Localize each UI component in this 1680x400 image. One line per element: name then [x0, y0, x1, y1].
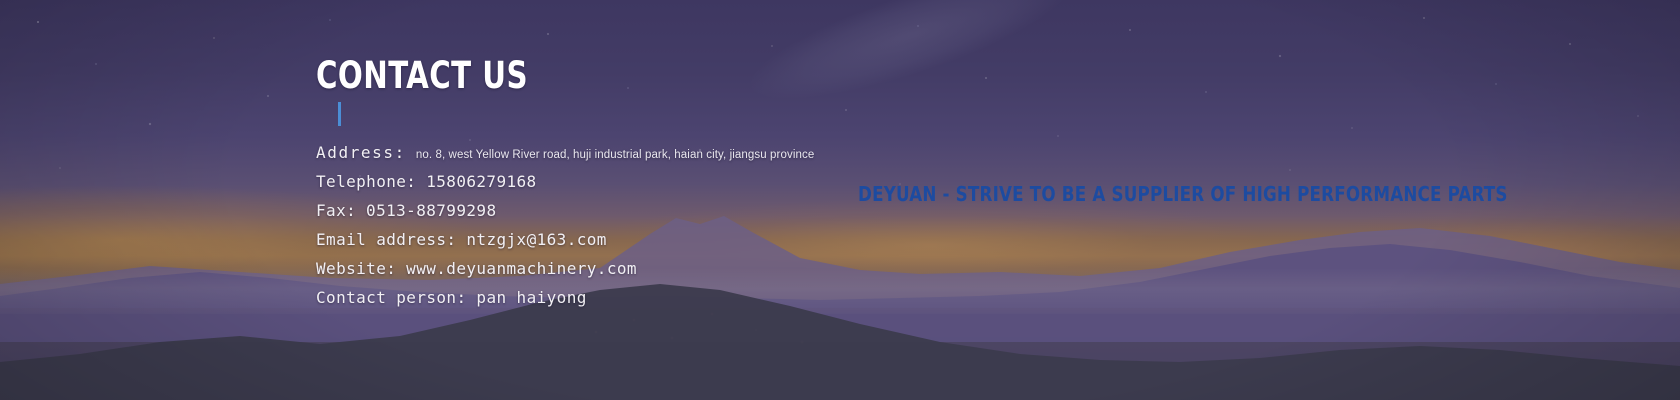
- address-value: no. 8, west Yellow River road, huji indu…: [416, 149, 814, 161]
- email-value[interactable]: ntzgjx@163.com: [466, 230, 606, 249]
- contact-person-label: Contact person:: [316, 288, 467, 307]
- contact-row-website: Website: www.deyuanmachinery.com: [316, 259, 814, 288]
- website-value[interactable]: www.deyuanmachinery.com: [406, 259, 637, 278]
- company-slogan: DEYUAN - STRIVE TO BE A SUPPLIER OF HIGH…: [858, 184, 1508, 204]
- title-accent-bar: [338, 102, 341, 126]
- contact-row-contact-person: Contact person: pan haiyong: [316, 288, 814, 317]
- email-label: Email address:: [316, 230, 456, 249]
- telephone-label: Telephone:: [316, 172, 416, 191]
- banner-content: CONTACT US Address: no. 8, west Yellow R…: [0, 0, 1680, 400]
- contact-banner: CONTACT US Address: no. 8, west Yellow R…: [0, 0, 1680, 400]
- fax-value: 0513-88799298: [366, 201, 496, 220]
- telephone-value[interactable]: 15806279168: [426, 172, 536, 191]
- contact-row-telephone: Telephone: 15806279168: [316, 172, 814, 201]
- contact-person-value: pan haiyong: [476, 288, 586, 307]
- contact-details-list: Address: no. 8, west Yellow River road, …: [316, 143, 814, 317]
- contact-row-email: Email address: ntzgjx@163.com: [316, 230, 814, 259]
- contact-row-fax: Fax: 0513-88799298: [316, 201, 814, 230]
- fax-label: Fax:: [316, 201, 356, 220]
- address-label: Address:: [316, 143, 406, 162]
- website-label: Website:: [316, 259, 396, 278]
- contact-row-address: Address: no. 8, west Yellow River road, …: [316, 143, 814, 172]
- page-title: CONTACT US: [316, 57, 528, 94]
